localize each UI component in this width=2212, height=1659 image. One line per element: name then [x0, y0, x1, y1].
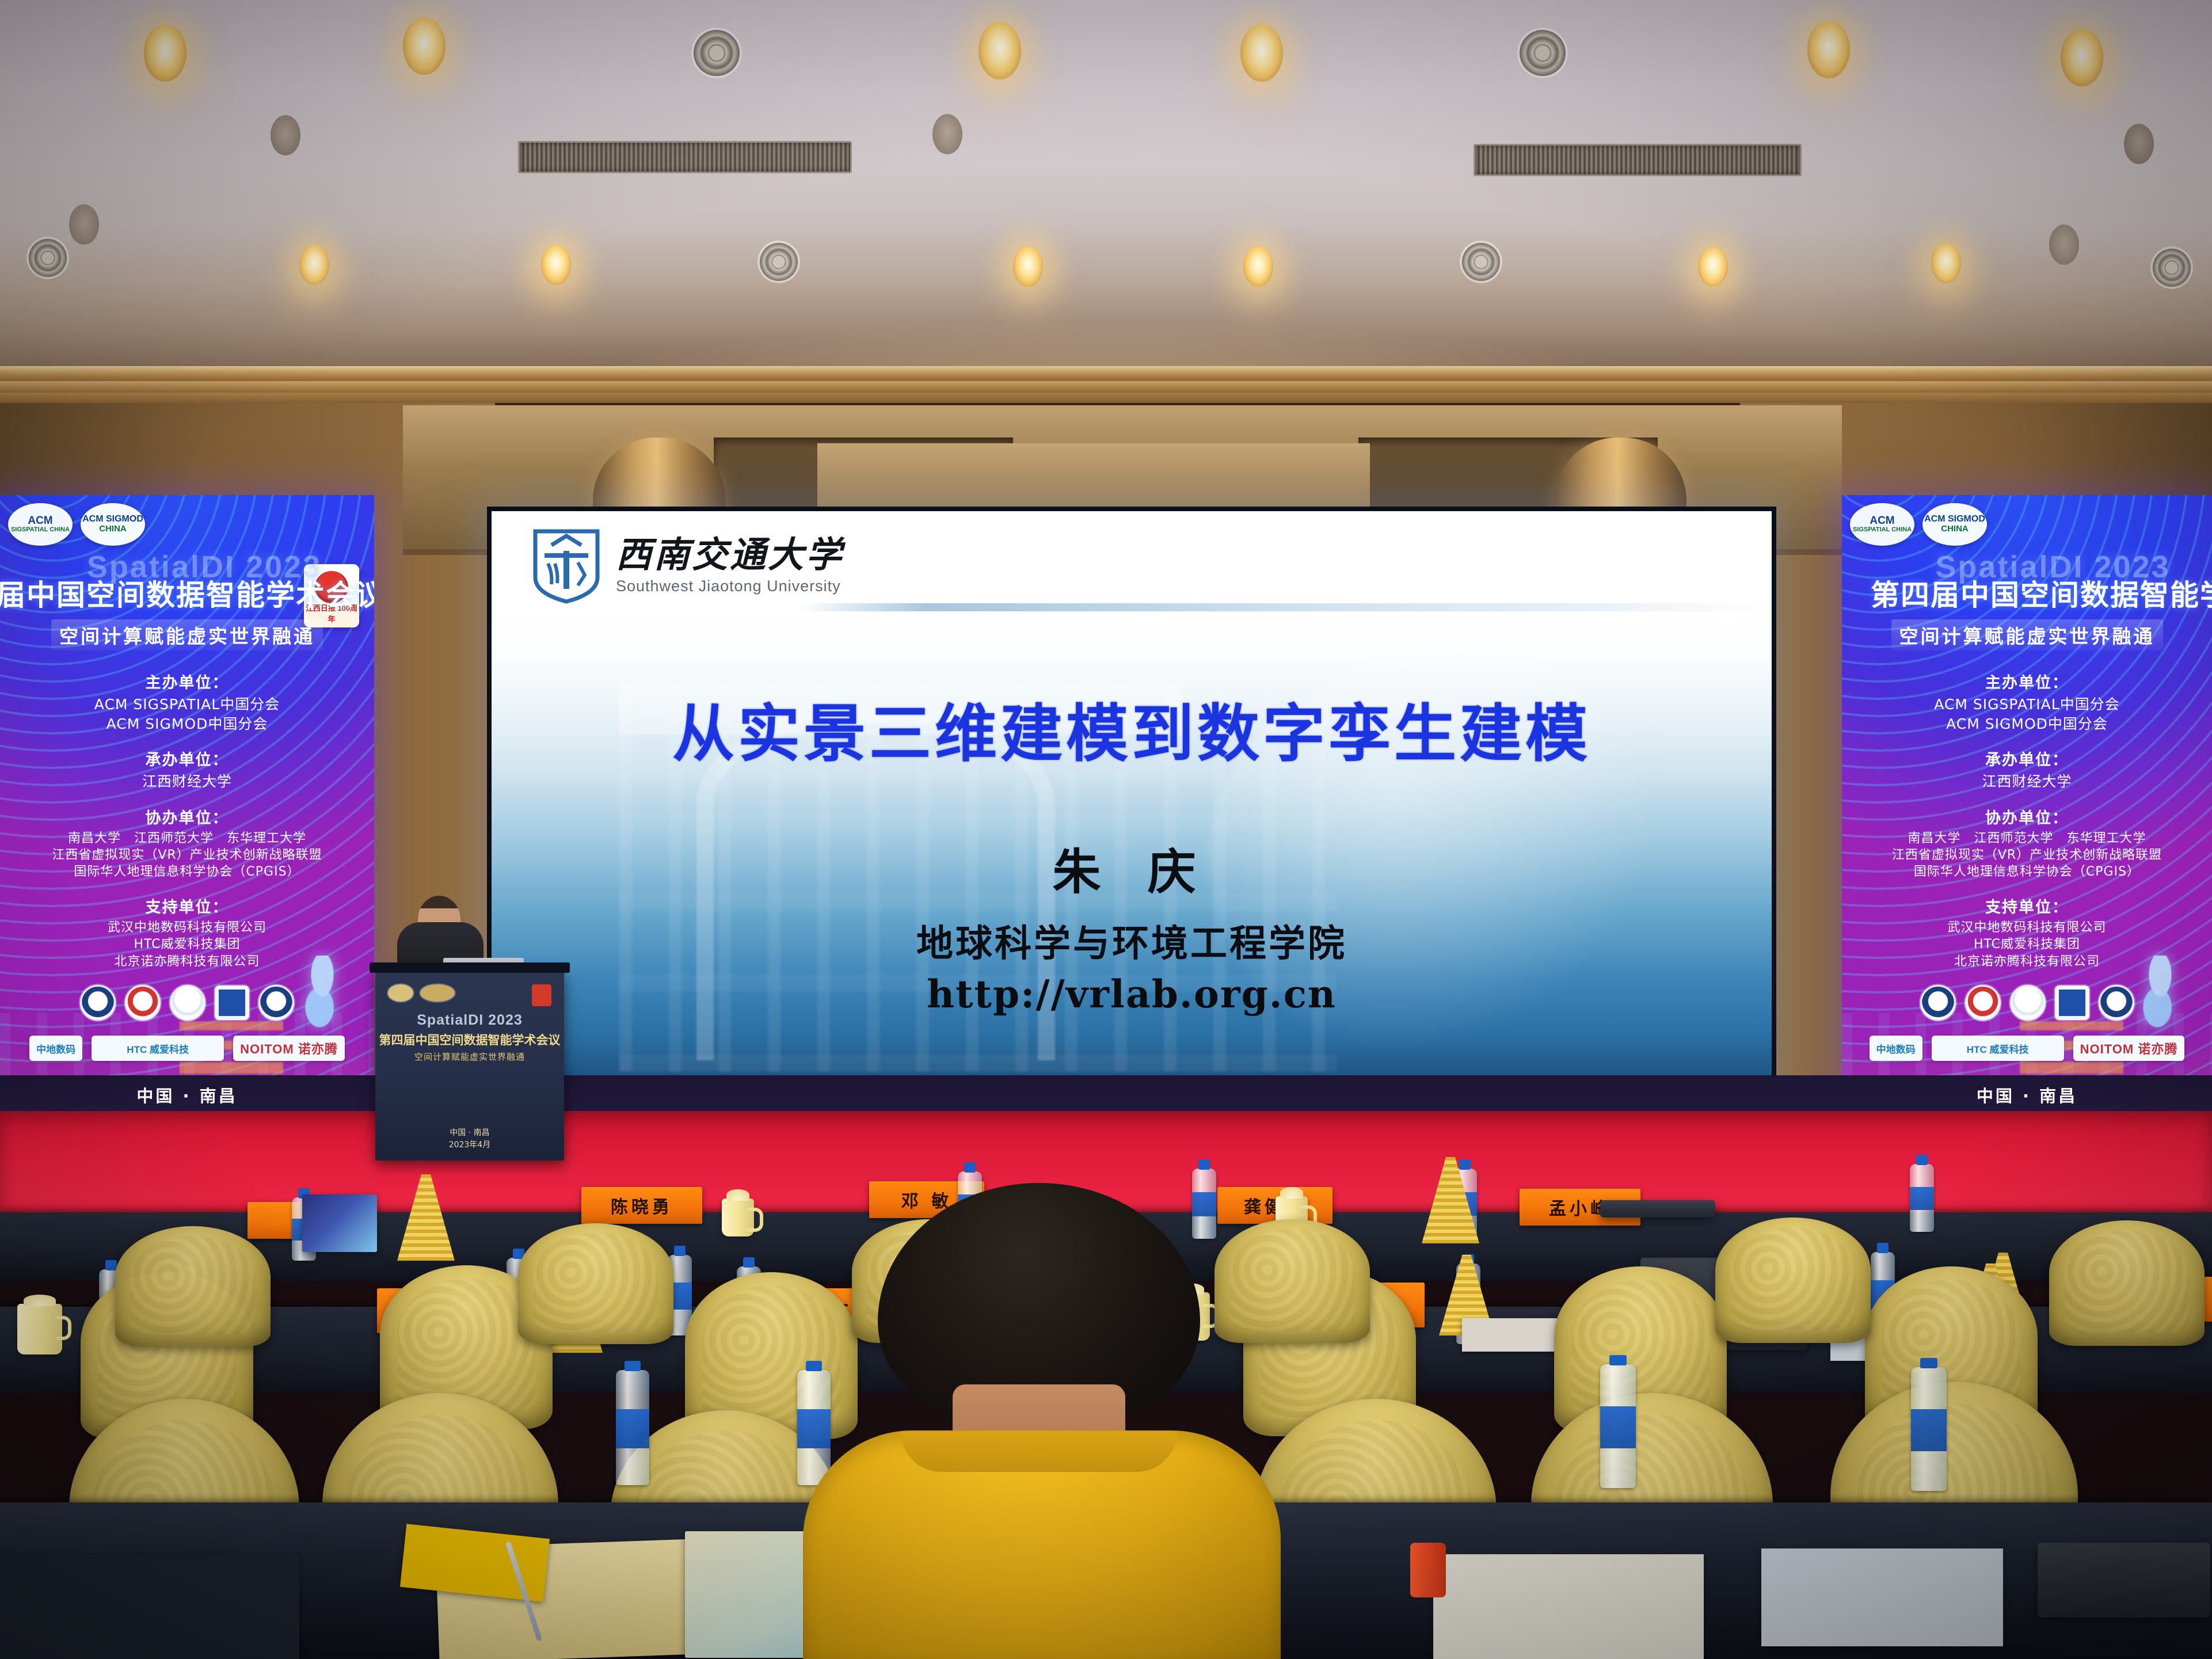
tablet-device: [2038, 1543, 2210, 1618]
presentation-slide: 西南交通大学 Southwest Jiaotong University 从实景…: [492, 511, 1772, 1083]
university-wordmark: 西南交通大学 Southwest Jiaotong University: [616, 537, 844, 595]
podium-logo-row: [375, 984, 564, 1006]
university-seal-icon: [170, 985, 205, 1021]
ceiling-air-vent-round: [1520, 30, 1566, 76]
ceiling-air-vent-linear: [1474, 144, 1802, 176]
organizer-line: ACM SIGMOD中国分会: [6, 714, 368, 734]
ceiling-downlight: [1698, 246, 1728, 287]
banquet-chair: [518, 1223, 673, 1344]
co-organizer-line: 江西省虚拟现实（VR）产业技术创新战略联盟: [1848, 847, 2206, 863]
supporter-label: 支持单位：: [1848, 895, 2206, 917]
podium-location-block: 中国 · 南昌 2023年4月: [375, 1127, 564, 1151]
supporter-block: 支持单位： 武汉中地数码科技有限公司 HTC威爱科技集团 北京诺亦腾科技有限公司: [1848, 895, 2206, 970]
co-organizer-line: 江西省虚拟现实（VR）产业技术创新战略联盟: [6, 847, 368, 863]
banner-date: 2023年4月: [6, 1109, 368, 1111]
podium-top-surface: [370, 962, 570, 973]
sponsor-logo-row: 中地数码 HTC 威爱科技 NOITOM 诺亦腾: [1848, 1036, 2206, 1061]
zondy-logo: 中地数码: [29, 1036, 82, 1061]
organizer-line: ACM SIGSPATIAL中国分会: [6, 695, 368, 714]
slide-header-divider: [492, 603, 1772, 611]
led-banner-right: ACM SIGSPATIAL CHINA ACM SIGMOD CHINA Sp…: [1842, 495, 2212, 1111]
co-organizer-line: 国际华人地理信息科学协会（CPGIS）: [6, 863, 368, 880]
podium-signage: SpatialDI 2023 第四届中国空间数据智能学术会议 空间计算赋能虚实世…: [375, 984, 564, 1063]
podium-date: 2023年4月: [375, 1139, 564, 1151]
ceiling-downlight: [1243, 246, 1273, 287]
slide-header: 西南交通大学 Southwest Jiaotong University: [492, 511, 1772, 621]
ceiling-downlight: [403, 17, 446, 75]
person-collar: [901, 1432, 1177, 1472]
conference-program-stand: [302, 1194, 377, 1252]
university-seal-icon: [2099, 985, 2134, 1021]
co-organizer-line: 南昌大学 江西师范大学 东华理工大学: [6, 830, 368, 847]
lectern-podium: SpatialDI 2023 第四届中国空间数据智能学术会议 空间计算赋能虚实世…: [375, 971, 564, 1160]
organizer-label: 主办单位：: [1848, 670, 2206, 692]
ceiling-downlight: [1807, 21, 1850, 78]
ceiling-downlight: [2061, 29, 2103, 86]
university-name-en: Southwest Jiaotong University: [616, 577, 844, 595]
slide-title: 从实景三维建模到数字孪生建模: [492, 684, 1772, 774]
organizer-line: ACM SIGMOD中国分会: [1848, 714, 2206, 734]
banquet-chair: [115, 1226, 271, 1347]
banner-date: 2023年4月: [1848, 1109, 2206, 1111]
sponsor-logo-row: 中地数码 HTC 威爱科技 NOITOM 诺亦腾: [6, 1036, 368, 1061]
noitom-logo: NOITOM 诺亦腾: [2073, 1036, 2185, 1061]
organizer-block: 主办单位： ACM SIGSPATIAL中国分会 ACM SIGMOD中国分会: [1848, 670, 2206, 733]
supporter-line: 武汉中地数码科技有限公司: [6, 919, 368, 936]
host-line: 江西财经大学: [1848, 772, 2206, 792]
ceiling-downlight-off: [69, 204, 99, 245]
conference-hall-photo: 江西日报 100周年 ACM SIGSPATIAL CHINA ACM SIGM…: [0, 0, 2212, 1659]
acm-sigmod-china-logo: ACM SIGMOD CHINA: [81, 503, 145, 546]
supporter-line: 北京诺亦腾科技有限公司: [1848, 953, 2206, 970]
association-logo-row: ACM SIGSPATIAL CHINA ACM SIGMOD CHINA: [6, 503, 368, 546]
university-seal-icon: [1920, 985, 1956, 1021]
banquet-chair: [1715, 1217, 1871, 1343]
host-label: 承办单位：: [6, 747, 368, 770]
university-name-cn: 西南交通大学: [616, 537, 844, 573]
university-seal-icon: [1965, 985, 2001, 1021]
nameplate-chen-xiaoyong: 陈晓勇: [581, 1187, 702, 1224]
supporter-line: HTC威爱科技集团: [1848, 936, 2206, 953]
tea-cup: [722, 1198, 754, 1236]
banner-location-block: 中国 · 南昌 2023年4月: [6, 1084, 368, 1111]
ceiling-downlight: [1931, 243, 1961, 283]
banner-location: 中国 · 南昌: [1848, 1084, 2206, 1109]
jiangxi-daily-seal-icon: [532, 984, 551, 1006]
supporter-label: 支持单位：: [6, 895, 368, 917]
water-bottle: [1911, 1367, 1947, 1491]
podium-subtitle: 空间计算赋能虚实世界融通: [375, 1051, 564, 1063]
acm-sigmod-china-logo: ACM SIGMOD CHINA: [1922, 503, 1987, 546]
co-organizer-label: 协办单位：: [1848, 805, 2206, 828]
organizer-block: 主办单位： ACM SIGSPATIAL中国分会 ACM SIGMOD中国分会: [6, 670, 368, 733]
university-seal-icon: [80, 985, 116, 1021]
university-seal-row: [6, 985, 368, 1021]
host-block: 承办单位： 江西财经大学: [1848, 747, 2206, 792]
university-seal-row: [1848, 985, 2206, 1021]
co-organizer-line: 南昌大学 江西师范大学 东华理工大学: [1848, 830, 2206, 847]
swjtu-shield-icon: [532, 528, 601, 604]
tea-cup: [17, 1304, 62, 1354]
co-organizer-block: 协办单位： 南昌大学 江西师范大学 东华理工大学 江西省虚拟现实（VR）产业技术…: [6, 805, 368, 881]
university-seal-icon: [215, 985, 249, 1020]
banquet-chair: [2049, 1220, 2205, 1346]
supporter-line: 北京诺亦腾科技有限公司: [6, 953, 368, 970]
led-presentation-screen: 西南交通大学 Southwest Jiaotong University 从实景…: [487, 507, 1776, 1088]
ceiling-downlight: [979, 22, 1021, 79]
podium-seal-icon: [388, 984, 413, 1002]
ceiling-air-vent-linear: [518, 141, 852, 173]
ceiling: [0, 0, 2212, 403]
supporter-line: 武汉中地数码科技有限公司: [1848, 919, 2206, 936]
co-organizer-block: 协办单位： 南昌大学 江西师范大学 东华理工大学 江西省虚拟现实（VR）产业技术…: [1848, 805, 2206, 881]
banner-heading: 第四届中国空间数据智能学术会议: [1871, 572, 2206, 614]
slide-department: 地球科学与环境工程学院: [492, 914, 1772, 967]
supporter-line: HTC威爱科技集团: [6, 936, 368, 953]
co-organizer-line: 国际华人地理信息科学协会（CPGIS）: [1848, 863, 2206, 880]
ceiling-downlight: [144, 24, 186, 82]
notebook-pad: [1600, 1200, 1715, 1217]
supporter-block: 支持单位： 武汉中地数码科技有限公司 HTC威爱科技集团 北京诺亦腾科技有限公司: [6, 895, 368, 970]
banner-heading: 第四届中国空间数据智能学术会议: [0, 572, 368, 614]
co-organizer-label: 协办单位：: [6, 805, 368, 828]
noitom-logo: NOITOM 诺亦腾: [233, 1036, 345, 1061]
ceiling-air-vent-round: [29, 239, 67, 277]
banner-location: 中国 · 南昌: [6, 1084, 368, 1109]
podium-title-cn: 第四届中国空间数据智能学术会议: [375, 1031, 564, 1048]
university-seal-icon: [258, 985, 294, 1021]
ceiling-air-vent-round: [694, 30, 740, 76]
association-logo-row: ACM SIGSPATIAL CHINA ACM SIGMOD CHINA: [1848, 503, 2206, 546]
host-label: 承办单位：: [1848, 747, 2206, 770]
htc-vive-logo: HTC 威爱科技: [1932, 1036, 2064, 1061]
acm-sigspatial-china-logo: ACM SIGSPATIAL CHINA: [1850, 503, 1914, 546]
dark-notebook: [0, 1554, 299, 1659]
audience-member-foreground: [803, 1183, 1281, 1659]
ceiling-downlight-off: [271, 115, 300, 155]
htc-vive-logo: HTC 威爱科技: [92, 1036, 224, 1061]
ceiling-downlight-off: [2049, 225, 2079, 265]
ceiling-downlight: [1240, 24, 1283, 82]
ceiling-downlight: [1013, 246, 1043, 287]
ceiling-downlight-off: [932, 114, 962, 154]
acm-sigspatial-china-logo: ACM SIGSPATIAL CHINA: [8, 503, 73, 546]
banner-location-block: 中国 · 南昌 2023年4月: [1848, 1084, 2206, 1111]
podium-title-en: SpatialDI 2023: [375, 1012, 564, 1029]
banner-subheading: 空间计算赋能虚实世界融通: [51, 619, 323, 650]
water-bottle: [1600, 1364, 1636, 1488]
cornice-molding: [0, 366, 2212, 381]
ceiling-air-vent-round: [1462, 243, 1500, 281]
notepad: [1761, 1548, 2003, 1646]
ceiling-downlight-off: [2124, 124, 2154, 164]
university-seal-icon: [2055, 985, 2089, 1020]
banner-subheading: 空间计算赋能虚实世界融通: [1891, 619, 2163, 650]
ceiling-downlight: [541, 245, 571, 285]
ceiling-air-vent-round: [2153, 249, 2191, 287]
led-banner-left: 江西日报 100周年 ACM SIGSPATIAL CHINA ACM SIGM…: [0, 495, 374, 1111]
water-bottle: [1910, 1164, 1934, 1232]
ceiling-downlight: [299, 245, 329, 285]
university-seal-icon: [2010, 985, 2046, 1021]
slide-lab-url: http://vrlab.org.cn: [492, 972, 1772, 1017]
ceiling-air-vent-round: [760, 243, 798, 281]
podium-location: 中国 · 南昌: [375, 1127, 564, 1139]
red-marker-pen: [1410, 1543, 1446, 1597]
notepad: [1433, 1554, 1704, 1659]
organizer-label: 主办单位：: [6, 670, 368, 692]
host-line: 江西财经大学: [6, 772, 368, 792]
cornice-molding: [0, 381, 2212, 393]
host-block: 承办单位： 江西财经大学: [6, 747, 368, 792]
university-seal-icon: [125, 985, 161, 1021]
zondy-logo: 中地数码: [1870, 1036, 1922, 1061]
podium-seal-icon: [420, 984, 455, 1002]
slide-speaker-name: 朱 庆: [492, 834, 1772, 903]
organizer-line: ACM SIGSPATIAL中国分会: [1848, 695, 2206, 714]
water-bottle: [616, 1370, 649, 1485]
